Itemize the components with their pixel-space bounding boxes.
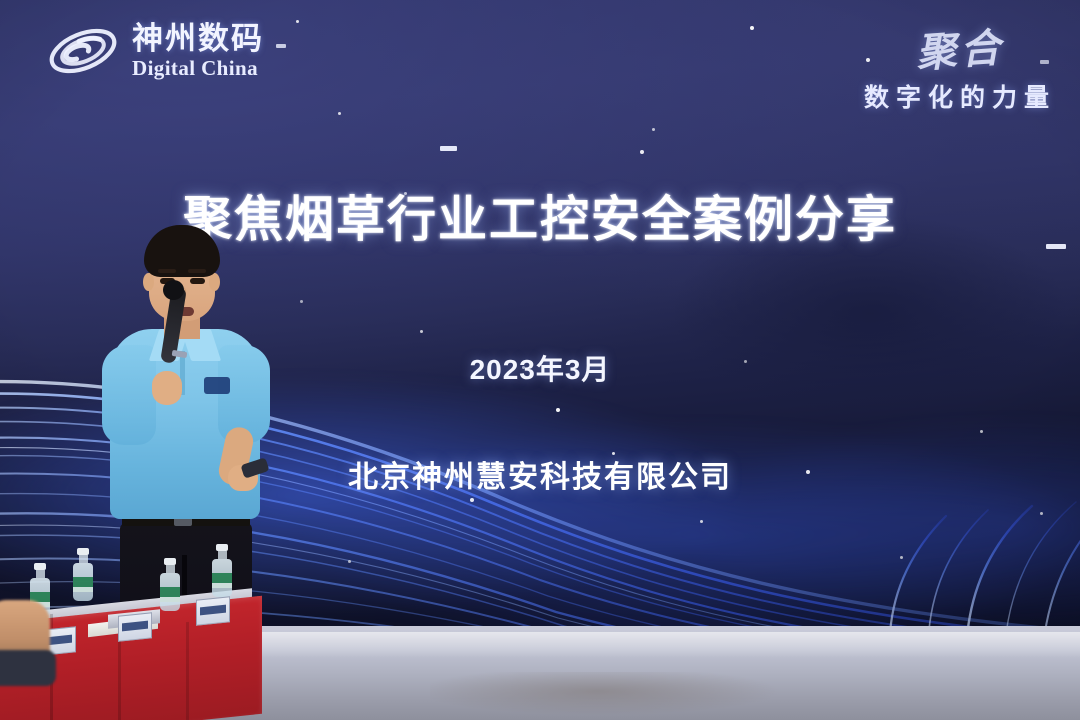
particle-dot — [640, 150, 644, 154]
particle-dot — [980, 430, 983, 433]
nameplate — [196, 596, 230, 626]
particle-dot — [700, 520, 703, 523]
foreground-attendee-sleeve — [0, 650, 56, 686]
speaker-figure — [96, 225, 276, 635]
stage-floor-shadow — [430, 672, 850, 720]
speaker-ear-right — [209, 273, 220, 291]
particle-dot — [750, 26, 754, 30]
swirl-spiral-logo-icon — [44, 18, 122, 84]
speaker-hair — [144, 225, 220, 277]
particle-dot — [470, 498, 474, 502]
nameplate — [118, 612, 152, 642]
speaker-eye-right — [190, 278, 205, 284]
campaign-tagline: 聚合 数字化的力量 — [864, 18, 1056, 114]
speaker-ear-left — [143, 273, 154, 291]
conference-stage-photo: 神州数码 Digital China 聚合 数字化的力量 聚焦烟草行业工控安全案… — [0, 0, 1080, 720]
speaker-eyebrow-left — [158, 269, 176, 273]
speaker-chest-logo-icon — [204, 377, 230, 394]
particle-dash — [276, 44, 286, 48]
particle-dot — [1040, 512, 1043, 515]
campaign-calligraphy: 聚合 — [862, 11, 1058, 82]
speaker-sleeve-left — [102, 345, 156, 445]
particle-dash — [440, 146, 457, 151]
brand-logo: 神州数码 Digital China — [44, 18, 264, 84]
particle-dot — [556, 408, 560, 412]
water-bottle — [73, 548, 93, 601]
speaker-hand-left — [152, 371, 182, 405]
brand-name-cn: 神州数码 — [132, 23, 264, 54]
table-skirt-fold — [186, 622, 189, 720]
brand-name-en: Digital China — [132, 58, 264, 79]
particle-dot — [296, 20, 299, 23]
campaign-subtitle: 数字化的力量 — [864, 78, 1056, 114]
speaker-eyebrow-right — [188, 269, 206, 273]
particle-dot — [348, 560, 351, 563]
particle-dot — [652, 128, 655, 131]
particle-dot — [338, 112, 341, 115]
particle-dot — [900, 556, 903, 559]
microphone-head-icon — [163, 280, 184, 300]
particle-dot — [420, 330, 423, 333]
particle-dot — [300, 300, 303, 303]
water-bottle — [160, 558, 180, 611]
water-bottle — [212, 544, 232, 597]
